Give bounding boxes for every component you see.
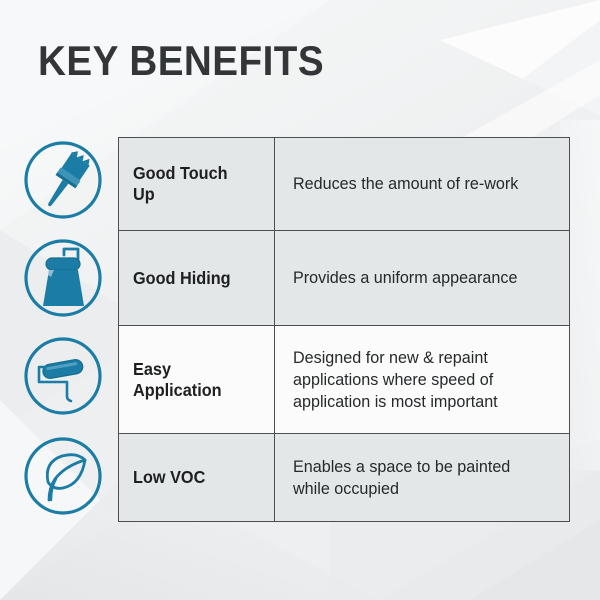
benefit-description: Enables a space to be painted while occu… xyxy=(293,456,542,500)
benefit-description: Provides a uniform appearance xyxy=(293,267,517,289)
benefit-description-cell: Provides a uniform appearance xyxy=(275,231,569,325)
table-row: Good Hiding Provides a uniform appearanc… xyxy=(119,231,569,326)
benefit-description-cell: Reduces the amount of re-work xyxy=(275,138,569,230)
benefit-name-cell: Low VOC xyxy=(119,434,275,521)
key-benefits-infographic: KEY BENEFITS xyxy=(0,0,600,600)
leaf-icon xyxy=(20,433,106,519)
table-row: Easy Application Designed for new & repa… xyxy=(119,326,569,434)
benefit-description: Reduces the amount of re-work xyxy=(293,173,518,195)
benefit-name-cell: Easy Application xyxy=(119,326,275,433)
table-row: Low VOC Enables a space to be painted wh… xyxy=(119,434,569,521)
benefit-description-cell: Designed for new & repaint applications … xyxy=(275,326,569,433)
paint-brush-icon xyxy=(20,137,106,223)
benefit-description: Designed for new & repaint applications … xyxy=(293,347,542,413)
page-title: KEY BENEFITS xyxy=(38,38,324,84)
table-row: Good Touch Up Reduces the amount of re-w… xyxy=(119,138,569,231)
benefit-name-cell: Good Hiding xyxy=(119,231,275,325)
benefit-name: Good Hiding xyxy=(133,268,231,289)
benefits-table: Good Touch Up Reduces the amount of re-w… xyxy=(118,137,570,522)
benefit-icon-rail xyxy=(20,137,106,521)
benefit-name-cell: Good Touch Up xyxy=(119,138,275,230)
benefit-name: Good Touch Up xyxy=(133,163,253,205)
benefit-name: Easy Application xyxy=(133,359,253,401)
benefit-description-cell: Enables a space to be painted while occu… xyxy=(275,434,569,521)
paint-roller-side-icon xyxy=(20,333,106,419)
benefit-name: Low VOC xyxy=(133,467,205,488)
paint-roller-down-icon xyxy=(20,235,106,321)
